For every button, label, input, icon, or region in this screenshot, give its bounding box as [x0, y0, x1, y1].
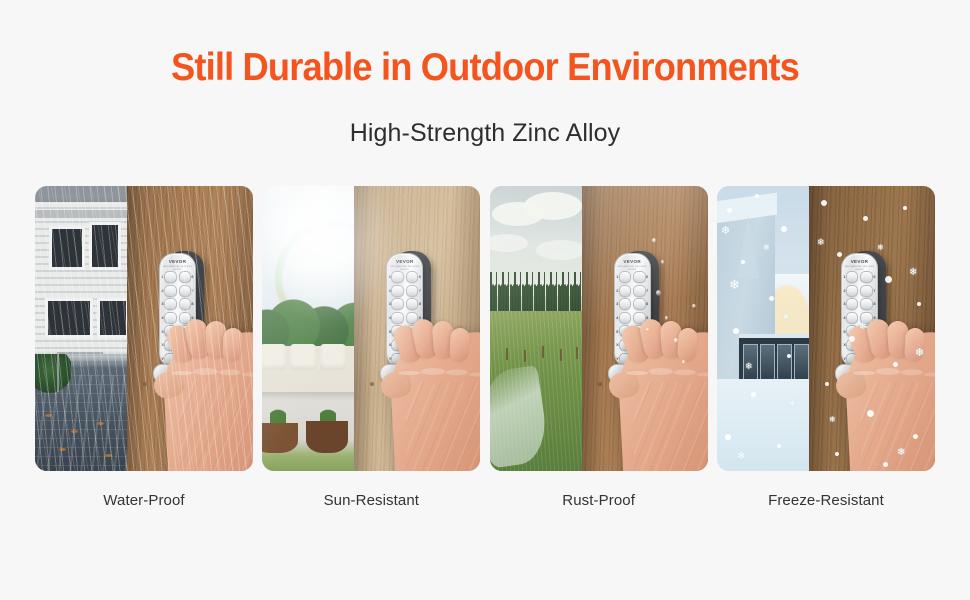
wooden-door: VEVOR MECHANICAL KEYLESS ENTRY 1 6 2 7 3…: [127, 186, 253, 471]
scene-sunny-patio-lounge: [262, 186, 354, 471]
panel-image-rust-proof: VEVOR MECHANICAL KEYLESS ENTRY 1 6 2 7 3…: [490, 186, 708, 471]
window: [89, 222, 121, 270]
window: [49, 226, 85, 270]
water-droplet-icon: [665, 316, 668, 320]
fence-post: [560, 349, 562, 361]
fence-post: [576, 347, 578, 359]
panel-image-water-proof: VEVOR MECHANICAL KEYLESS ENTRY 1 6 2 7 3…: [35, 186, 253, 471]
hand-gripping-handle: [354, 186, 480, 471]
scene-green-meadow-stream: [490, 186, 582, 471]
panel-image-sun-resistant: VEVOR MECHANICAL KEYLESS ENTRY 1 6 2 7 3…: [262, 186, 480, 471]
hand-texture: [179, 382, 253, 471]
water-droplet-icon: [661, 260, 664, 264]
scene-rainy-house-exterior: [35, 186, 127, 471]
cushion: [320, 344, 346, 370]
water-droplet-icon: [674, 338, 678, 343]
water-droplet-icon: [692, 304, 696, 308]
panel-image-freeze-resistant: VEVOR MECHANICAL KEYLESS ENTRY 1 6 2 7 3…: [717, 186, 935, 471]
water-droplet-icon: [656, 290, 661, 296]
fallen-leaf: [71, 430, 78, 433]
fallen-leaf: [59, 448, 66, 451]
hand-texture: [634, 382, 708, 471]
water-droplet-icon: [652, 238, 656, 243]
panel-caption-water-proof: Water-Proof: [103, 491, 184, 511]
roof-eave: [35, 210, 127, 218]
hand-gripping-handle: [809, 186, 935, 471]
handrail: [57, 352, 103, 392]
wooden-door: VEVOR MECHANICAL KEYLESS ENTRY 1 6 2 7 3…: [809, 186, 935, 471]
feature-panel-sun-resistant[interactable]: VEVOR MECHANICAL KEYLESS ENTRY 1 6 2 7 3…: [262, 186, 480, 516]
window: [45, 298, 93, 338]
feature-panel-row: VEVOR MECHANICAL KEYLESS ENTRY 1 6 2 7 3…: [35, 186, 935, 516]
sun-icon: [262, 186, 354, 308]
cloud: [536, 240, 582, 260]
feature-panel-freeze-resistant[interactable]: VEVOR MECHANICAL KEYLESS ENTRY 1 6 2 7 3…: [717, 186, 935, 516]
fallen-leaf: [105, 454, 112, 457]
cloud: [524, 192, 582, 220]
water-droplet-icon: [682, 360, 685, 364]
scene-snow-covered-house: [717, 186, 809, 471]
panel-caption-sun-resistant: Sun-Resistant: [324, 491, 420, 511]
hand-texture: [406, 382, 480, 471]
fence-post: [524, 350, 526, 362]
fence-post: [506, 348, 508, 360]
hand-gripping-handle: [582, 186, 708, 471]
cushion: [290, 344, 316, 370]
planter-pot: [262, 423, 298, 453]
hand-texture: [861, 382, 935, 471]
planter-pot: [306, 421, 348, 453]
panel-caption-freeze-resistant: Freeze-Resistant: [768, 491, 884, 511]
potted-plant: [270, 401, 286, 425]
fallen-leaf: [97, 422, 104, 425]
fence-post: [542, 346, 544, 358]
wooden-door: VEVOR MECHANICAL KEYLESS ENTRY 1 6 2 7 3…: [354, 186, 480, 471]
page-title: Still Durable in Outdoor Environments: [34, 44, 936, 92]
water-droplet-icon: [646, 328, 649, 331]
wooden-door: VEVOR MECHANICAL KEYLESS ENTRY 1 6 2 7 3…: [582, 186, 708, 471]
fallen-leaf: [45, 414, 52, 417]
window: [97, 298, 127, 338]
feature-panel-water-proof[interactable]: VEVOR MECHANICAL KEYLESS ENTRY 1 6 2 7 3…: [35, 186, 253, 516]
page-subtitle: High-Strength Zinc Alloy: [0, 116, 970, 150]
snow-ground: [717, 379, 809, 471]
cushion: [262, 344, 286, 370]
hand-gripping-handle: [127, 186, 253, 471]
feature-panel-rust-proof[interactable]: VEVOR MECHANICAL KEYLESS ENTRY 1 6 2 7 3…: [490, 186, 708, 516]
panel-caption-rust-proof: Rust-Proof: [562, 491, 635, 511]
